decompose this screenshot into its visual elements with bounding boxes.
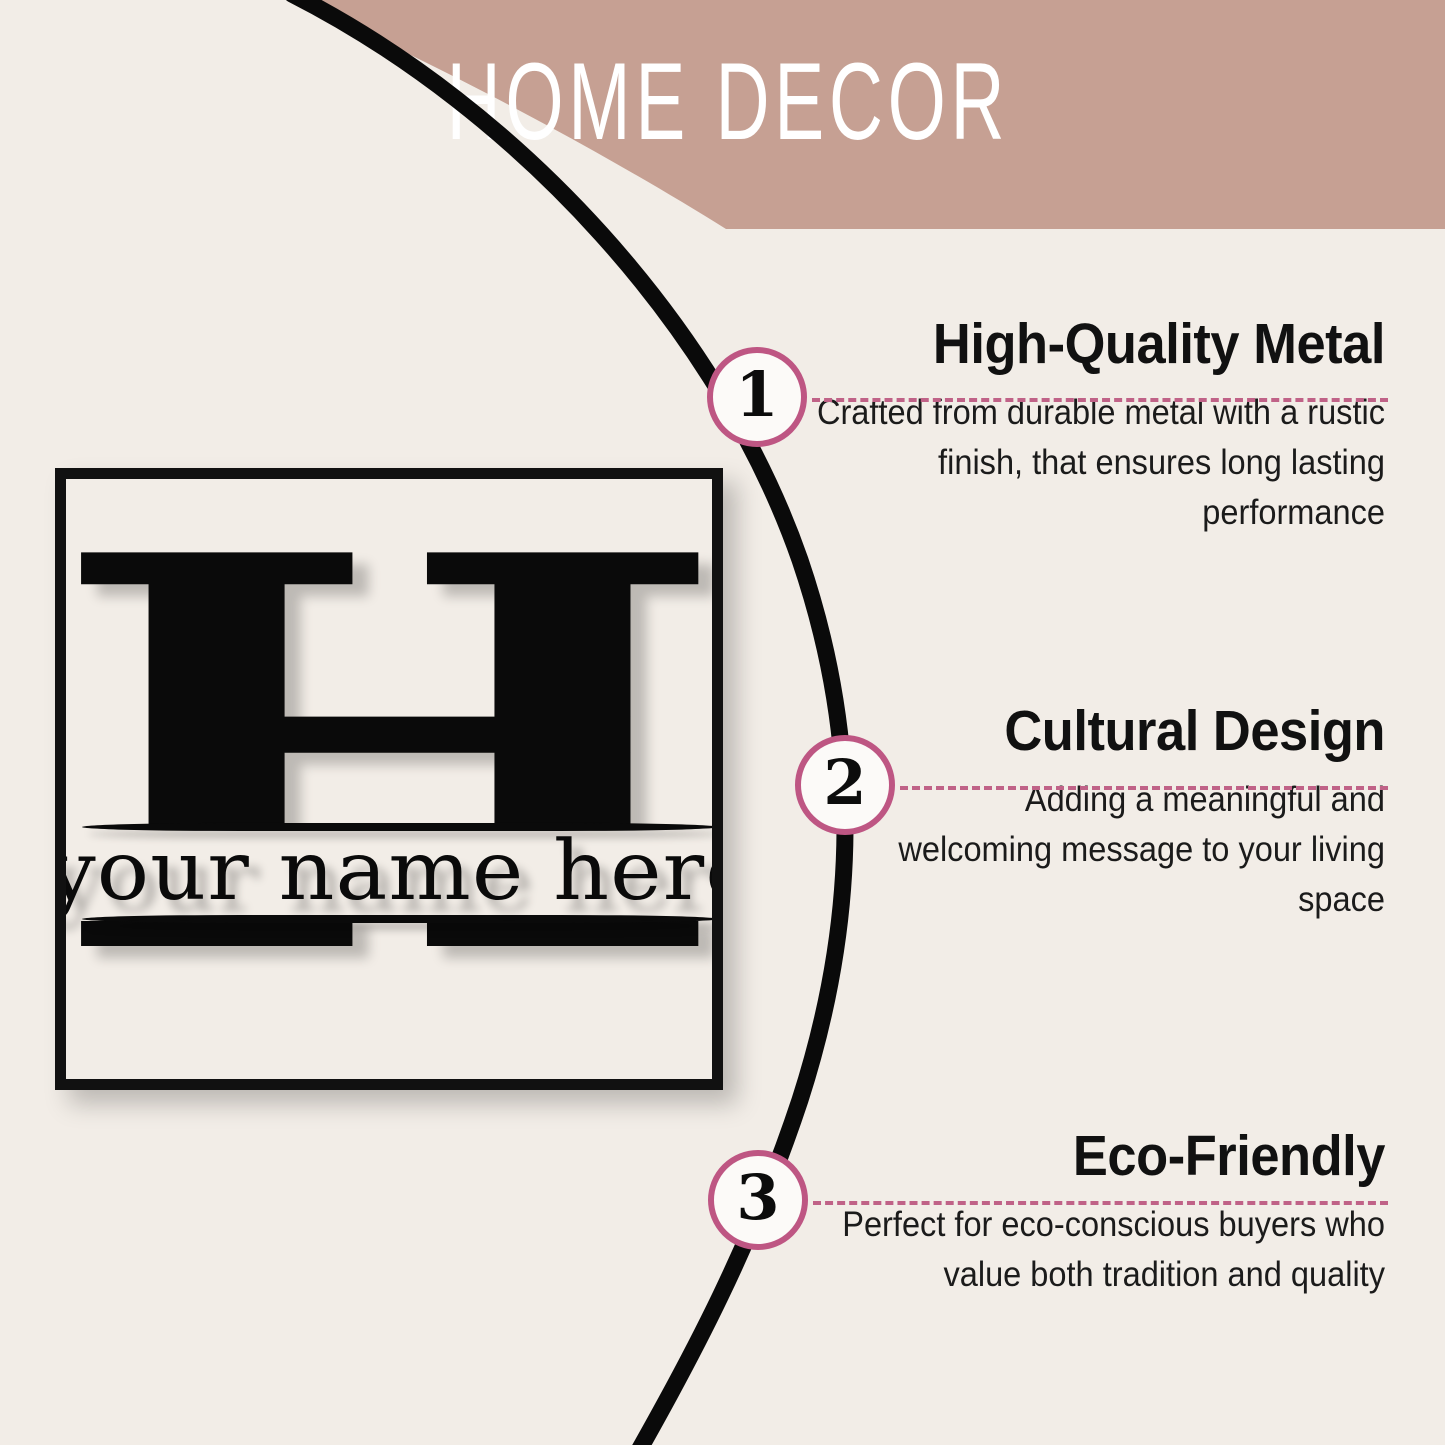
feature-text-block-1: High-Quality Metal Crafted from durable … xyxy=(765,314,1385,538)
feature-badge-2: 2 xyxy=(795,735,895,835)
feature-dash-line-1 xyxy=(812,398,1388,402)
monogram-upper-half: H xyxy=(66,479,712,827)
monogram-letter-bottom: H xyxy=(66,921,712,1027)
feature-badge-number-2: 2 xyxy=(823,752,866,814)
feature-dash-line-3 xyxy=(813,1201,1388,1205)
feature-badge-number-1: 1 xyxy=(735,364,778,426)
feature-title-3: Eco-Friendly xyxy=(815,1126,1385,1186)
feature-title-2: Cultural Design xyxy=(870,701,1385,761)
feature-dash-line-2 xyxy=(900,786,1388,790)
feature-text-block-3: Eco-Friendly Perfect for eco-conscious b… xyxy=(765,1126,1385,1300)
feature-description-1: Crafted from durable metal with a rustic… xyxy=(808,388,1385,538)
split-monogram: H H xyxy=(66,479,712,1079)
infographic-canvas: HOME DECOR H H your name here 1 H xyxy=(0,0,1445,1445)
feature-description-2: Adding a meaningful and welcoming messag… xyxy=(864,775,1385,925)
feature-text-block-2: Cultural Design Adding a meaningful and … xyxy=(825,701,1385,925)
feature-title-1: High-Quality Metal xyxy=(815,314,1385,374)
monogram-lower-half: H xyxy=(66,921,712,1079)
product-image-inner: H H your name here xyxy=(66,479,712,1079)
page-title: HOME DECOR xyxy=(159,40,1286,165)
name-placeholder-text: your name here xyxy=(66,831,712,913)
product-image-frame: H H your name here xyxy=(55,468,723,1090)
feature-description-3: Perfect for eco-conscious buyers who val… xyxy=(808,1200,1385,1300)
feature-badge-3: 3 xyxy=(708,1150,808,1250)
feature-badge-number-3: 3 xyxy=(736,1167,779,1229)
feature-badge-1: 1 xyxy=(707,347,807,447)
monogram-letter-top: H xyxy=(66,487,712,827)
